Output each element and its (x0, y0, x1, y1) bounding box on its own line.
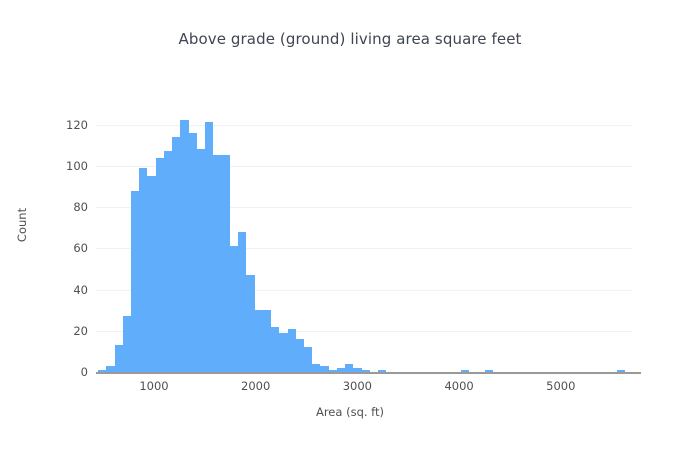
histogram-bar (345, 364, 353, 372)
histogram-bar (205, 122, 213, 372)
chart-title: Above grade (ground) living area square … (0, 30, 700, 48)
histogram-bar (123, 316, 131, 372)
plot-area (96, 108, 632, 372)
y-tick-label: 80 (48, 200, 88, 214)
x-tick-label: 5000 (546, 379, 575, 393)
histogram-bar (304, 347, 312, 372)
histogram-bars (96, 108, 632, 372)
histogram-bar (189, 133, 197, 372)
x-axis-title: Area (sq. ft) (0, 405, 700, 419)
y-tick-label: 40 (48, 283, 88, 297)
y-tick-label: 120 (48, 118, 88, 132)
histogram-bar (172, 137, 180, 372)
x-tick-label: 2000 (241, 379, 270, 393)
y-axis-tick-labels: 020406080100120 (42, 0, 88, 450)
histogram-bar (312, 364, 320, 372)
histogram-bar (238, 232, 246, 372)
x-tick-label: 4000 (444, 379, 473, 393)
histogram-bar (255, 310, 263, 372)
histogram-bar (147, 176, 155, 372)
y-tick-label: 20 (48, 324, 88, 338)
y-tick-label: 60 (48, 241, 88, 255)
histogram-bar (197, 149, 205, 372)
histogram-bar (222, 155, 230, 372)
histogram-bar (271, 327, 279, 372)
histogram-bar (156, 158, 164, 373)
histogram-bar (296, 339, 304, 372)
x-tick-label: 1000 (139, 379, 168, 393)
histogram-bar (230, 246, 238, 372)
y-tick-label: 0 (48, 365, 88, 379)
histogram-bar (213, 155, 221, 372)
histogram-bar (115, 345, 123, 372)
histogram-bar (180, 120, 188, 372)
y-tick-label: 100 (48, 159, 88, 173)
histogram-bar (164, 151, 172, 372)
histogram-bar (279, 333, 287, 372)
x-tick-label: 3000 (343, 379, 372, 393)
histogram-bar (288, 329, 296, 372)
histogram-bar (246, 275, 254, 372)
x-axis-line (96, 372, 641, 374)
histogram-bar (131, 191, 139, 373)
histogram-bar (263, 310, 271, 372)
histogram-bar (139, 168, 147, 372)
y-axis-title: Count (15, 208, 29, 242)
histogram-figure: Above grade (ground) living area square … (0, 0, 700, 450)
